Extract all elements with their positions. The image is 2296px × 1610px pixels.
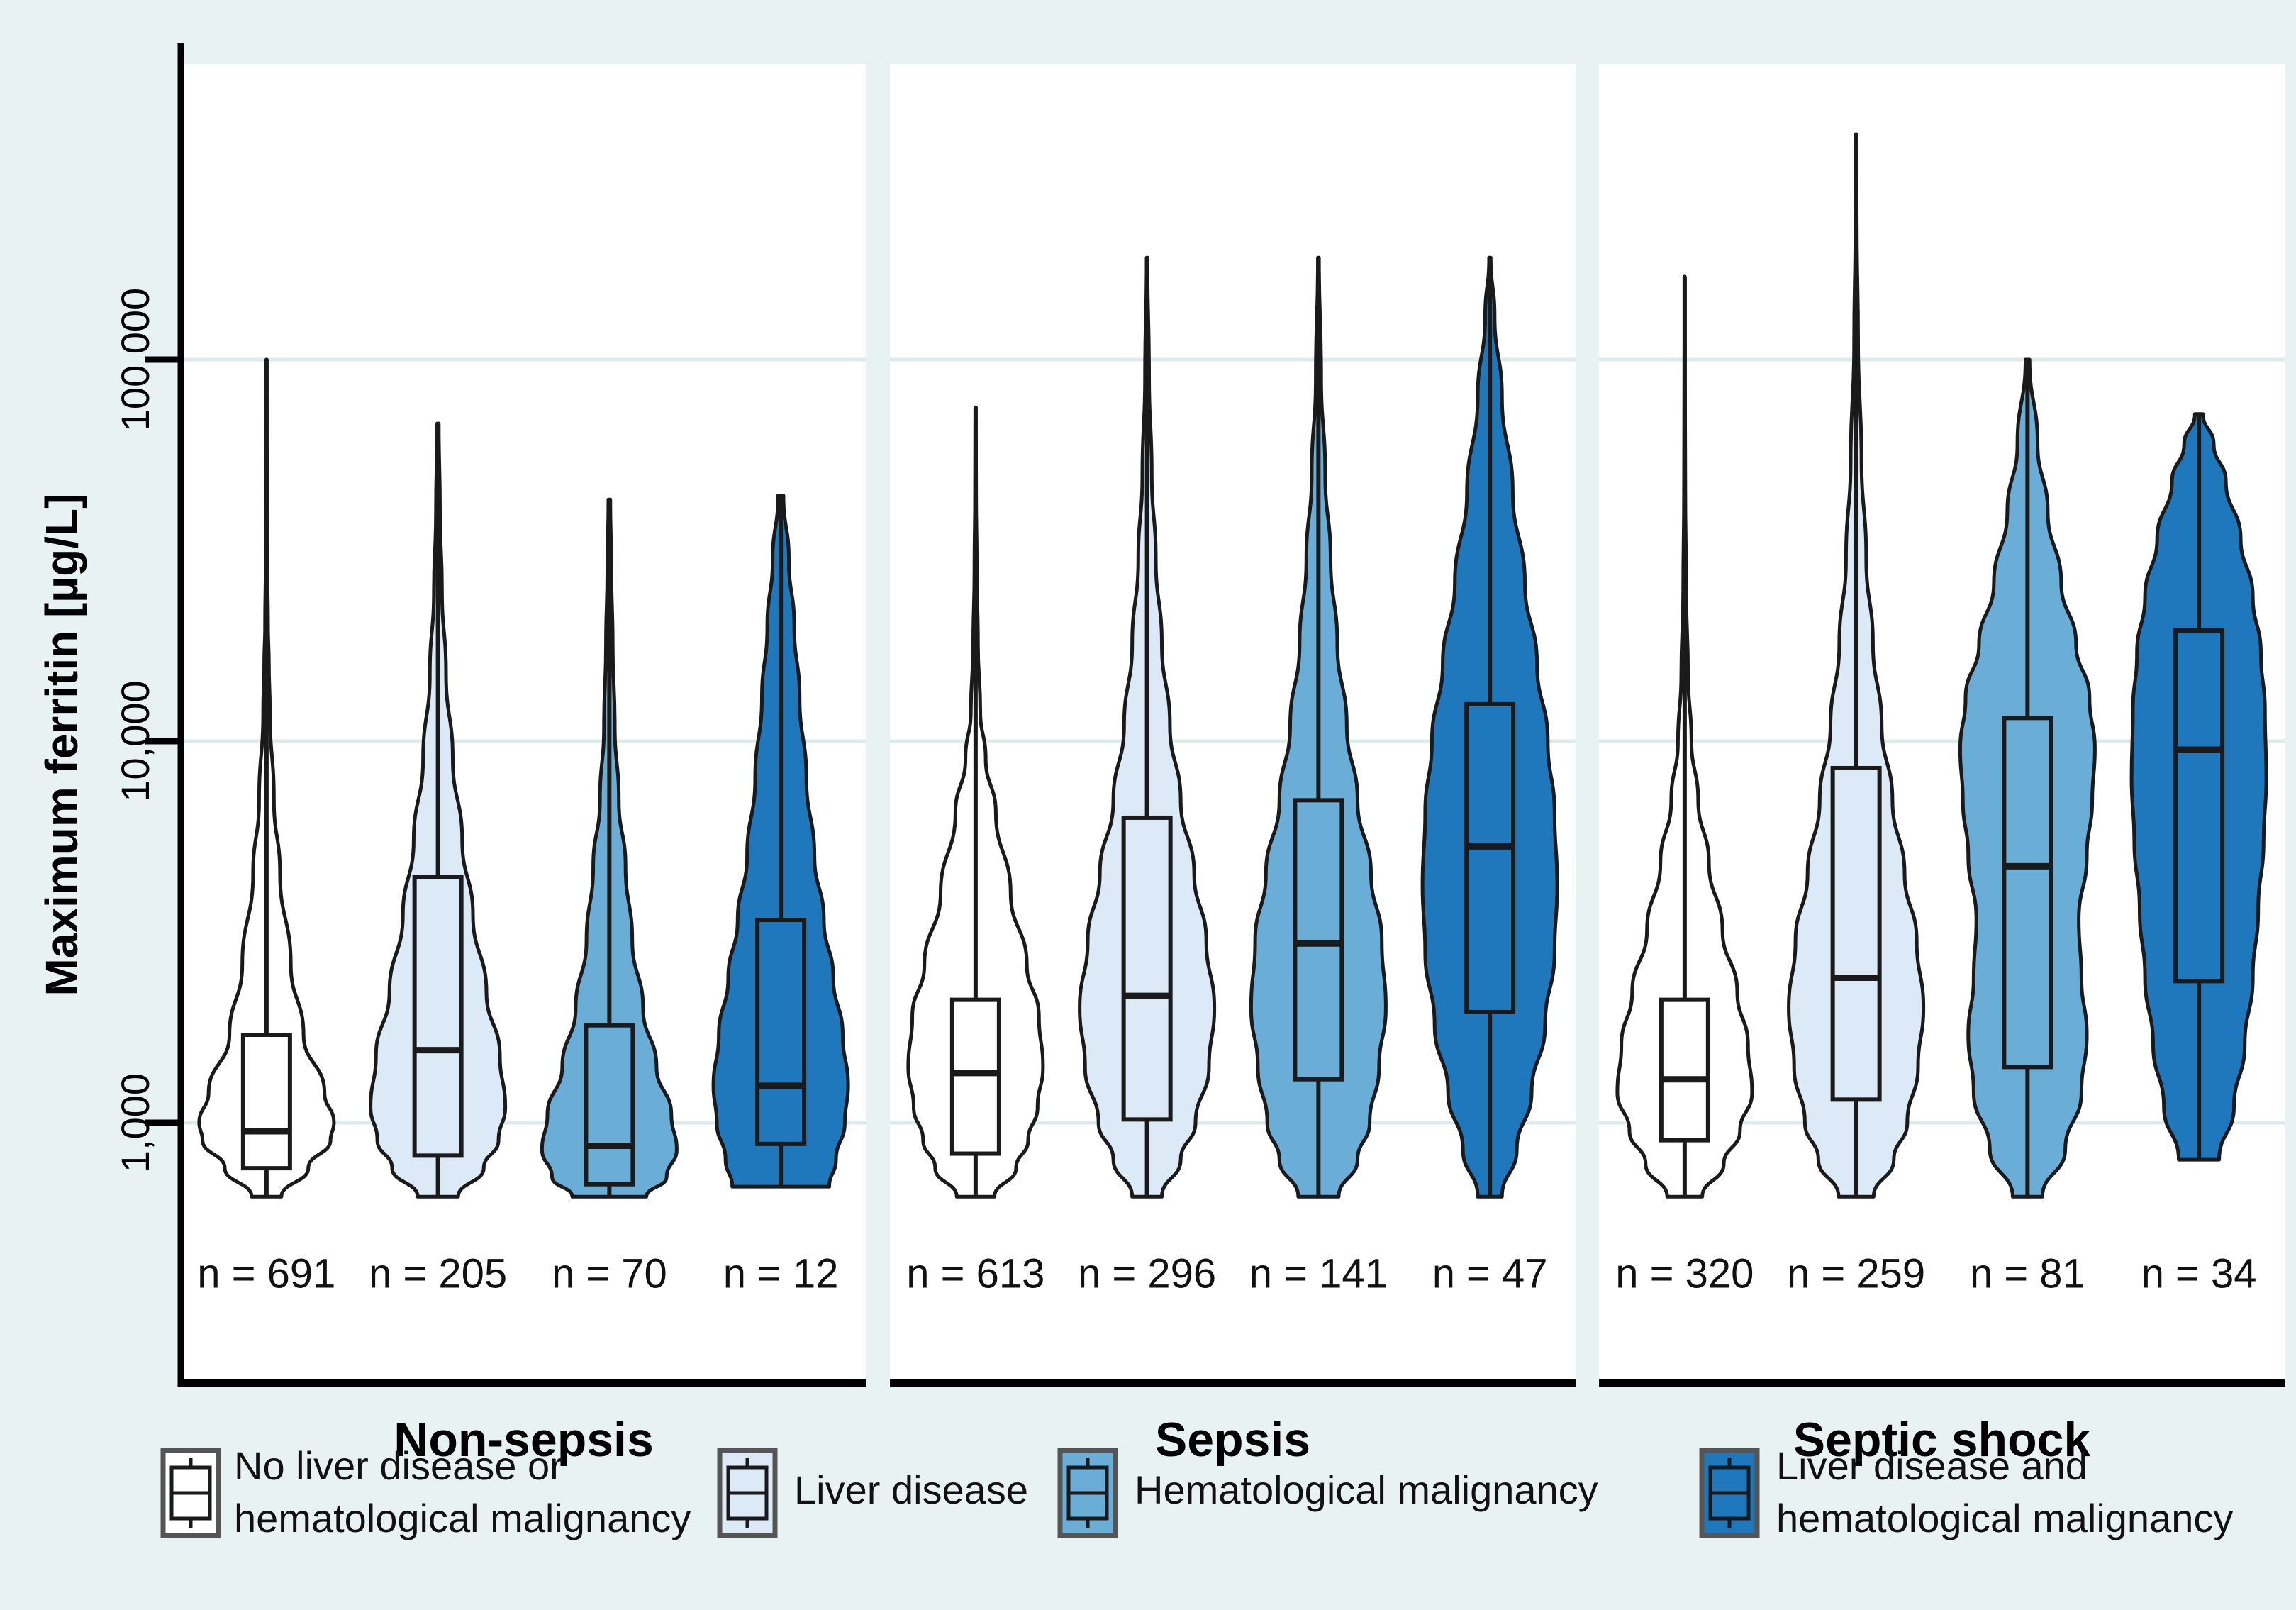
box-2-2 [2004, 718, 2051, 1067]
n-label-1-1: n = 296 [1078, 1250, 1216, 1297]
legend-label-3-line2: hematological malignancy [1776, 1496, 2233, 1540]
legend-label-2: Hematological malignancy [1135, 1467, 1598, 1512]
y-tick-label-10,000: 10,000 [113, 680, 157, 801]
n-label-0-3: n = 12 [723, 1250, 839, 1297]
n-label-1-2: n = 141 [1249, 1250, 1388, 1297]
box-1-3 [1466, 704, 1513, 1012]
box-1-1 [1124, 818, 1171, 1119]
box-0-0 [243, 1035, 290, 1168]
n-label-0-1: n = 205 [369, 1250, 507, 1297]
box-0-3 [757, 920, 804, 1144]
group-label-sepsis: Sepsis [1155, 1413, 1310, 1467]
box-1-2 [1295, 800, 1342, 1079]
box-2-1 [1833, 768, 1880, 1099]
box-0-2 [586, 1026, 632, 1184]
n-label-0-2: n = 70 [552, 1250, 667, 1297]
box-2-0 [1661, 1000, 1708, 1140]
n-label-2-1: n = 259 [1787, 1250, 1925, 1297]
box-2-3 [2175, 631, 2222, 981]
legend-label-1: Liver disease [794, 1467, 1028, 1512]
box-0-1 [415, 877, 462, 1156]
n-label-1-3: n = 47 [1432, 1250, 1548, 1297]
legend-label-0-line2: hematological malignancy [234, 1496, 691, 1540]
legend-label-0: No liver disease or [234, 1443, 563, 1488]
n-label-1-0: n = 613 [906, 1250, 1044, 1297]
y-tick-label-1,000: 1,000 [113, 1073, 157, 1172]
figure-root: 1,00010,000100,000Maximum ferritin [µg/L… [0, 0, 2296, 1610]
y-tick-label-100,000: 100,000 [113, 288, 157, 431]
y-axis-title: Maximum ferritin [µg/L] [36, 494, 87, 996]
n-label-0-0: n = 691 [197, 1250, 335, 1297]
n-label-2-3: n = 34 [2141, 1250, 2257, 1297]
n-label-2-2: n = 81 [1970, 1250, 2085, 1297]
legend-label-3: Liver disease and [1776, 1443, 2088, 1488]
n-label-2-0: n = 320 [1615, 1250, 1754, 1297]
box-1-0 [952, 1000, 999, 1154]
violin-chart: 1,00010,000100,000Maximum ferritin [µg/L… [0, 0, 2296, 1610]
